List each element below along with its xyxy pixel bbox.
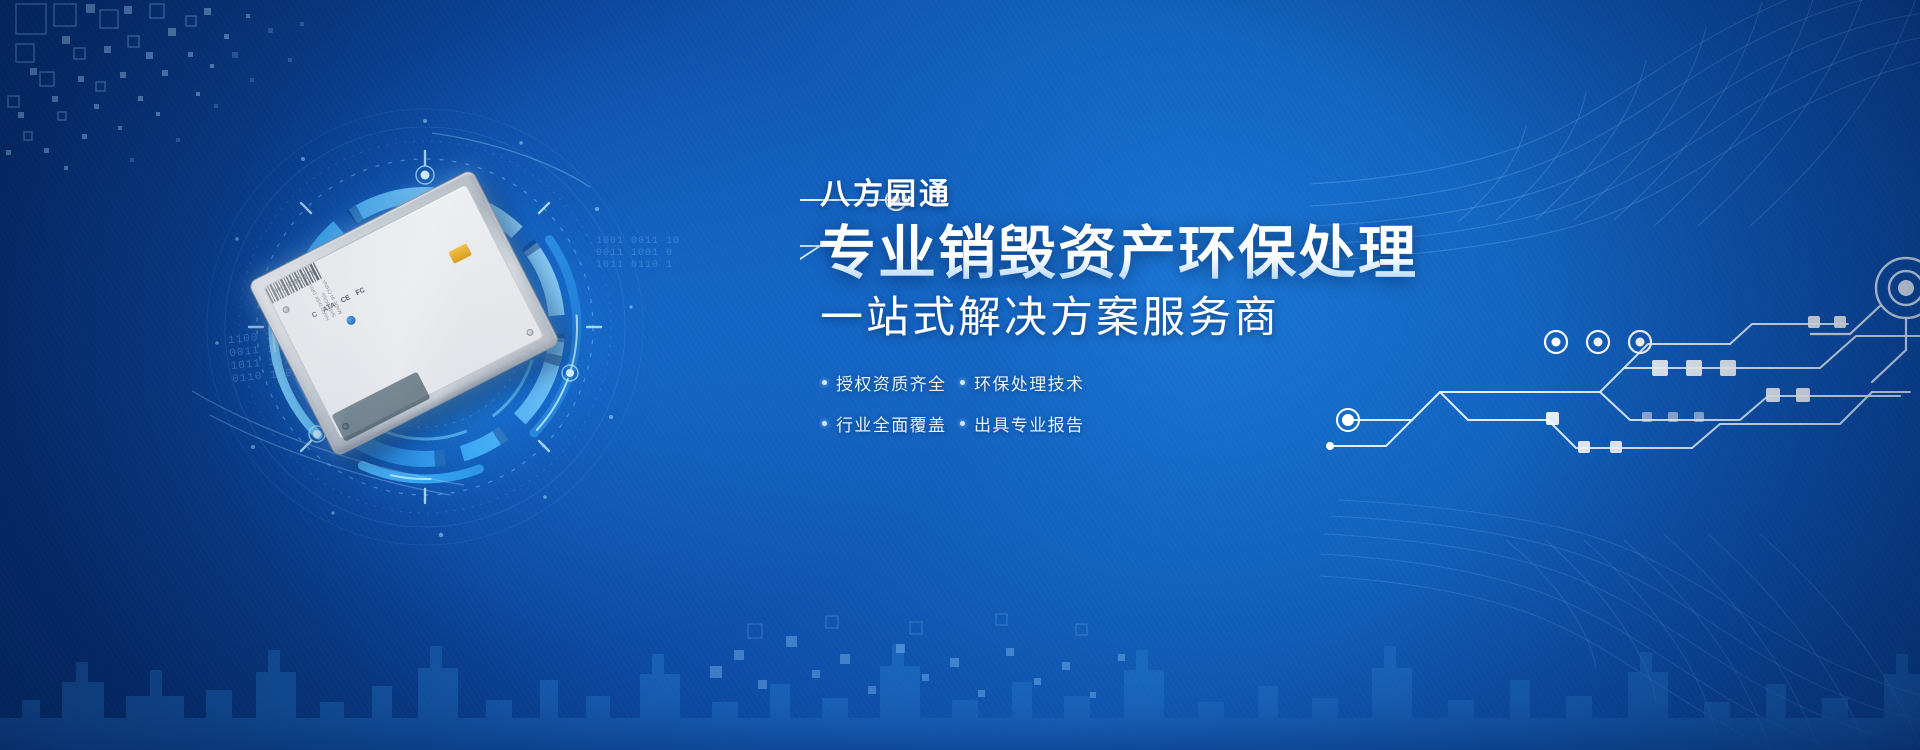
subheadline: 一站式解决方案服务商 [820, 294, 1478, 342]
hdd-certification-marks: C ATA CE FC [311, 287, 366, 320]
feature-label-4: 出具专业报告 [974, 411, 1084, 436]
feature-item-2: 环保处理技术 [960, 370, 1084, 395]
hard-drive-tech-graphic: WD5000 1TB [150, 95, 710, 555]
bullet-dot-icon [822, 421, 827, 426]
hdd-screw-tl [281, 305, 290, 314]
feature-item-4: 出具专业报告 [960, 411, 1084, 436]
hdd-label-sticker [448, 243, 472, 264]
hdd-screw-bl [341, 422, 350, 431]
brand-name: 八方园通 [820, 178, 1478, 211]
bullet-dot-icon [960, 380, 965, 385]
feature-row-1: 授权资质齐全 环保处理技术 [822, 370, 1478, 395]
cert-mark-3: CE [340, 294, 352, 305]
hero-banner: 1100 1001 100 0011 1010 01 1011 1011 001… [0, 0, 1920, 750]
headline: 专业销毁资产环保处理 [818, 223, 1478, 286]
connector-ring-right-edge [1810, 230, 1920, 390]
cert-mark-4: FC [355, 287, 367, 297]
banner-copy-block: 八方园通 专业销毁资产环保处理 一站式解决方案服务商 授权资质齐全 环保处理技术… [818, 178, 1478, 452]
feature-label-3: 行业全面覆盖 [836, 411, 946, 436]
hdd-barcode [264, 262, 322, 303]
feature-item-1: 授权资质齐全 [822, 370, 960, 395]
wireframe-mesh-bottom-right [1320, 480, 1920, 750]
bullet-dot-icon [822, 380, 827, 385]
feature-label-2: 环保处理技术 [974, 370, 1084, 395]
hdd-label-dot [345, 314, 357, 326]
bullet-dot-icon [960, 421, 965, 426]
feature-list: 授权资质齐全 环保处理技术 行业全面覆盖 出具专业报告 [822, 370, 1478, 436]
feature-item-3: 行业全面覆盖 [822, 411, 960, 436]
data-blocks-decoration [700, 570, 1160, 720]
hdd-screw-br [525, 328, 534, 337]
hdd-brand-text: WD5000 1TB [274, 268, 318, 295]
feature-row-2: 行业全面覆盖 出具专业报告 [822, 411, 1478, 436]
feature-label-1: 授权资质齐全 [836, 370, 946, 395]
cert-mark-2: ATA [322, 302, 337, 314]
cert-mark-1: C [311, 311, 319, 320]
